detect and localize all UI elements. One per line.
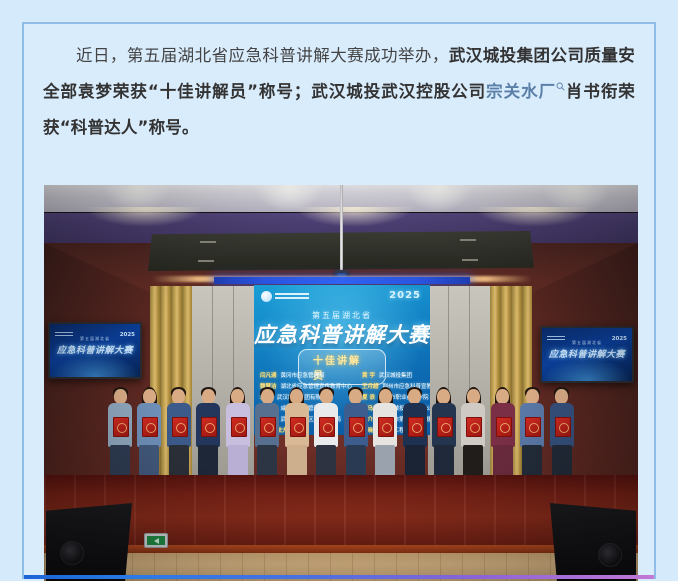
- ceremony-photo[interactable]: 2025 第五届湖北省 应急科普讲解大赛 十佳讲解员 闫凡通 黄冈市应急管理局 …: [44, 185, 638, 581]
- head: [172, 389, 185, 404]
- winner-name: 黄 宇: [362, 371, 375, 379]
- head: [143, 389, 156, 404]
- head: [555, 389, 568, 404]
- article-paragraph: 近日，第五届湖北省应急科普讲解大赛成功举办，武汉城投集团公司质量安全部袁梦荣获“…: [43, 38, 635, 146]
- bottom-accent-bar: [24, 575, 654, 579]
- certificate: [260, 417, 276, 437]
- ceiling-light-3: [404, 185, 474, 212]
- inline-link-label: 宗关水厂: [486, 82, 556, 101]
- speaker-cone: [598, 543, 622, 567]
- led-main-title: 应急科普讲解大赛: [254, 319, 430, 349]
- photo-scene: 2025 第五届湖北省 应急科普讲解大赛 十佳讲解员 闫凡通 黄冈市应急管理局 …: [44, 185, 638, 581]
- side-monitor-right-content: 2025 第五届湖北省 应急科普讲解大赛: [542, 328, 632, 381]
- led-year-label: 2025: [389, 290, 421, 301]
- front-speaker-left: [46, 503, 132, 581]
- paragraph-intro-text: 近日，第五届湖北省应急科普讲解大赛成功举办，: [76, 46, 449, 65]
- led-logo-emblem-icon: [261, 291, 272, 302]
- certificate: [290, 417, 306, 437]
- page-root: 近日，第五届湖北省应急科普讲解大赛成功举办，武汉城投集团公司质量安全部袁梦荣获“…: [0, 0, 678, 579]
- side-monitor-subtitle: 第五届湖北省: [542, 340, 632, 346]
- led-logo-wordmark: [275, 293, 309, 301]
- projector-rod: [340, 185, 343, 273]
- head: [320, 389, 333, 404]
- certificate: [525, 417, 541, 437]
- head: [349, 389, 362, 404]
- head: [526, 389, 539, 404]
- winner-name: 闫凡通: [260, 371, 277, 379]
- certificate: [142, 417, 158, 437]
- exit-arrow-icon: [154, 538, 159, 544]
- stage-floor: [44, 475, 638, 551]
- inline-link-zongguan-water-plant[interactable]: 宗关水厂: [486, 82, 565, 101]
- exit-sign-panel: [147, 536, 165, 545]
- side-monitor-right: 2025 第五届湖北省 应急科普讲解大赛: [540, 326, 634, 383]
- certificate: [231, 417, 247, 437]
- acoustic-mark-4: [462, 259, 478, 261]
- acoustic-mark-3: [460, 239, 476, 241]
- certificate: [113, 417, 129, 437]
- certificate: [496, 417, 512, 437]
- head: [261, 389, 274, 404]
- side-monitor-left: 2025 第五届湖北省 应急科普讲解大赛: [48, 322, 142, 379]
- head: [496, 389, 509, 404]
- head: [290, 389, 303, 404]
- acoustic-mark-1: [200, 241, 216, 243]
- article-body: 近日，第五届湖北省应急科普讲解大赛成功举办，武汉城投集团公司质量安全部袁梦荣获“…: [24, 24, 654, 146]
- side-monitor-title: 应急科普讲解大赛: [542, 347, 632, 360]
- head: [202, 389, 215, 404]
- certificate: [466, 417, 482, 437]
- certificate: [408, 417, 424, 437]
- led-organization-logo: [261, 291, 309, 302]
- certificate: [378, 417, 394, 437]
- head: [114, 389, 127, 404]
- head: [408, 389, 421, 404]
- certificate: [349, 417, 365, 437]
- head: [379, 389, 392, 404]
- certificate: [437, 417, 453, 437]
- side-monitor-left-content: 2025 第五届湖北省 应急科普讲解大赛: [50, 324, 140, 377]
- emergency-exit-sign: [144, 533, 168, 548]
- certificate: [172, 417, 188, 437]
- certificate: [201, 417, 217, 437]
- front-speaker-right: [550, 503, 636, 581]
- led-winner-row: 闫凡通 黄冈市应急管理局: [260, 371, 352, 379]
- winner-org: 黄冈市应急管理局: [281, 371, 325, 379]
- side-monitor-title: 应急科普讲解大赛: [50, 343, 140, 356]
- blue-light-strip: [214, 277, 470, 284]
- search-icon[interactable]: [556, 82, 565, 91]
- soffit-light-1: [84, 207, 204, 227]
- certificate: [555, 417, 571, 437]
- head: [231, 389, 244, 404]
- winner-org: 武汉城投集团: [379, 371, 412, 379]
- side-monitor-subtitle: 第五届湖北省: [50, 336, 140, 342]
- soffit-light-3: [474, 207, 594, 227]
- soffit-light-2: [294, 207, 414, 227]
- certificate: [319, 417, 335, 437]
- article-card: 近日，第五届湖北省应急科普讲解大赛成功举办，武汉城投集团公司质量安全部袁梦荣获“…: [22, 22, 656, 579]
- acoustic-mark-2: [198, 260, 214, 262]
- led-winner-row: 黄 宇 武汉城投集团: [362, 371, 430, 379]
- speaker-cone: [60, 541, 84, 565]
- head: [467, 389, 480, 404]
